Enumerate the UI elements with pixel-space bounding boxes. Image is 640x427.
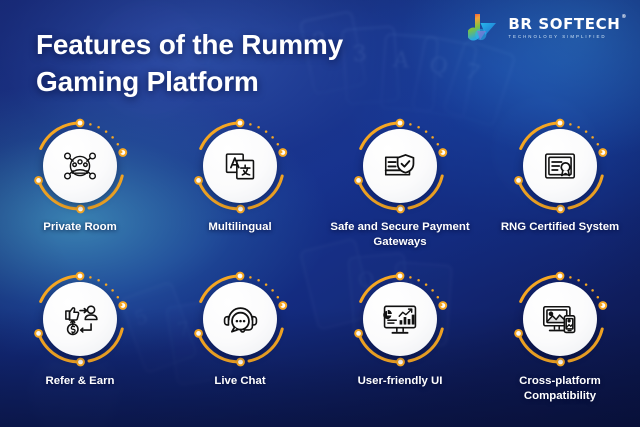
feature-item-rng-certified[interactable]: RNG Certified System — [480, 118, 640, 249]
feature-badge — [32, 118, 128, 214]
feature-item-multilingual[interactable]: Multilingual — [160, 118, 320, 249]
feature-icon-disc — [43, 282, 117, 356]
brand-name: BR SOFTECH — [508, 15, 620, 33]
page-title: Features of the Rummy Gaming Platform — [36, 27, 466, 101]
feature-label: Refer & Earn — [2, 374, 158, 389]
feature-icon-disc — [523, 129, 597, 203]
feature-label: User-friendly UI — [322, 374, 478, 389]
live-chat-icon — [221, 300, 260, 339]
secure-payment-icon — [381, 147, 419, 185]
brand-logo[interactable]: BR SOFTECH® TECHNOLOGY SIMPLIFIED — [468, 11, 626, 45]
certificate-icon — [541, 147, 579, 185]
feature-badge — [352, 271, 448, 367]
feature-item-secure-payment[interactable]: Safe and Secure Payment Gateways — [320, 118, 480, 249]
cross-platform-icon — [541, 300, 579, 338]
feature-icon-disc — [363, 129, 437, 203]
dashboard-monitor-icon — [381, 300, 419, 338]
feature-badge — [352, 118, 448, 214]
multilingual-icon — [221, 147, 259, 185]
feature-icon-disc — [363, 282, 437, 356]
br-softech-logo-icon — [468, 11, 502, 45]
feature-row-2: Refer & Earn — [0, 271, 640, 403]
feature-badge — [512, 118, 608, 214]
page-title-line2: Gaming Platform — [36, 64, 466, 101]
feature-badge — [32, 271, 128, 367]
brand-logo-text: BR SOFTECH® TECHNOLOGY SIMPLIFIED — [508, 17, 626, 39]
feature-label: Live Chat — [162, 374, 318, 389]
feature-label: Multilingual — [162, 220, 318, 235]
feature-item-refer-earn[interactable]: Refer & Earn — [0, 271, 160, 403]
feature-row-1: Private Room — [0, 118, 640, 249]
feature-badge — [192, 118, 288, 214]
feature-label: RNG Certified System — [482, 220, 638, 235]
private-room-icon — [60, 146, 100, 186]
registered-mark-icon: ® — [621, 14, 627, 20]
feature-item-user-friendly-ui[interactable]: User-friendly UI — [320, 271, 480, 403]
feature-badge — [512, 271, 608, 367]
feature-label: Private Room — [2, 220, 158, 235]
feature-item-private-room[interactable]: Private Room — [0, 118, 160, 249]
brand-tagline: TECHNOLOGY SIMPLIFIED — [508, 35, 626, 39]
feature-item-live-chat[interactable]: Live Chat — [160, 271, 320, 403]
feature-grid: Private Room — [0, 118, 640, 403]
feature-icon-disc — [523, 282, 597, 356]
infographic-poster: 2 3 A Q 7 Q — [0, 0, 640, 427]
feature-label: Safe and Secure Payment Gateways — [322, 220, 478, 249]
feature-icon-disc — [203, 282, 277, 356]
refer-earn-icon — [61, 300, 100, 339]
feature-label: Cross-platform Compatibility — [482, 374, 638, 403]
feature-item-cross-platform[interactable]: Cross-platform Compatibility — [480, 271, 640, 403]
feature-icon-disc — [203, 129, 277, 203]
feature-icon-disc — [43, 129, 117, 203]
page-title-line1: Features of the Rummy — [36, 29, 343, 60]
feature-badge — [192, 271, 288, 367]
